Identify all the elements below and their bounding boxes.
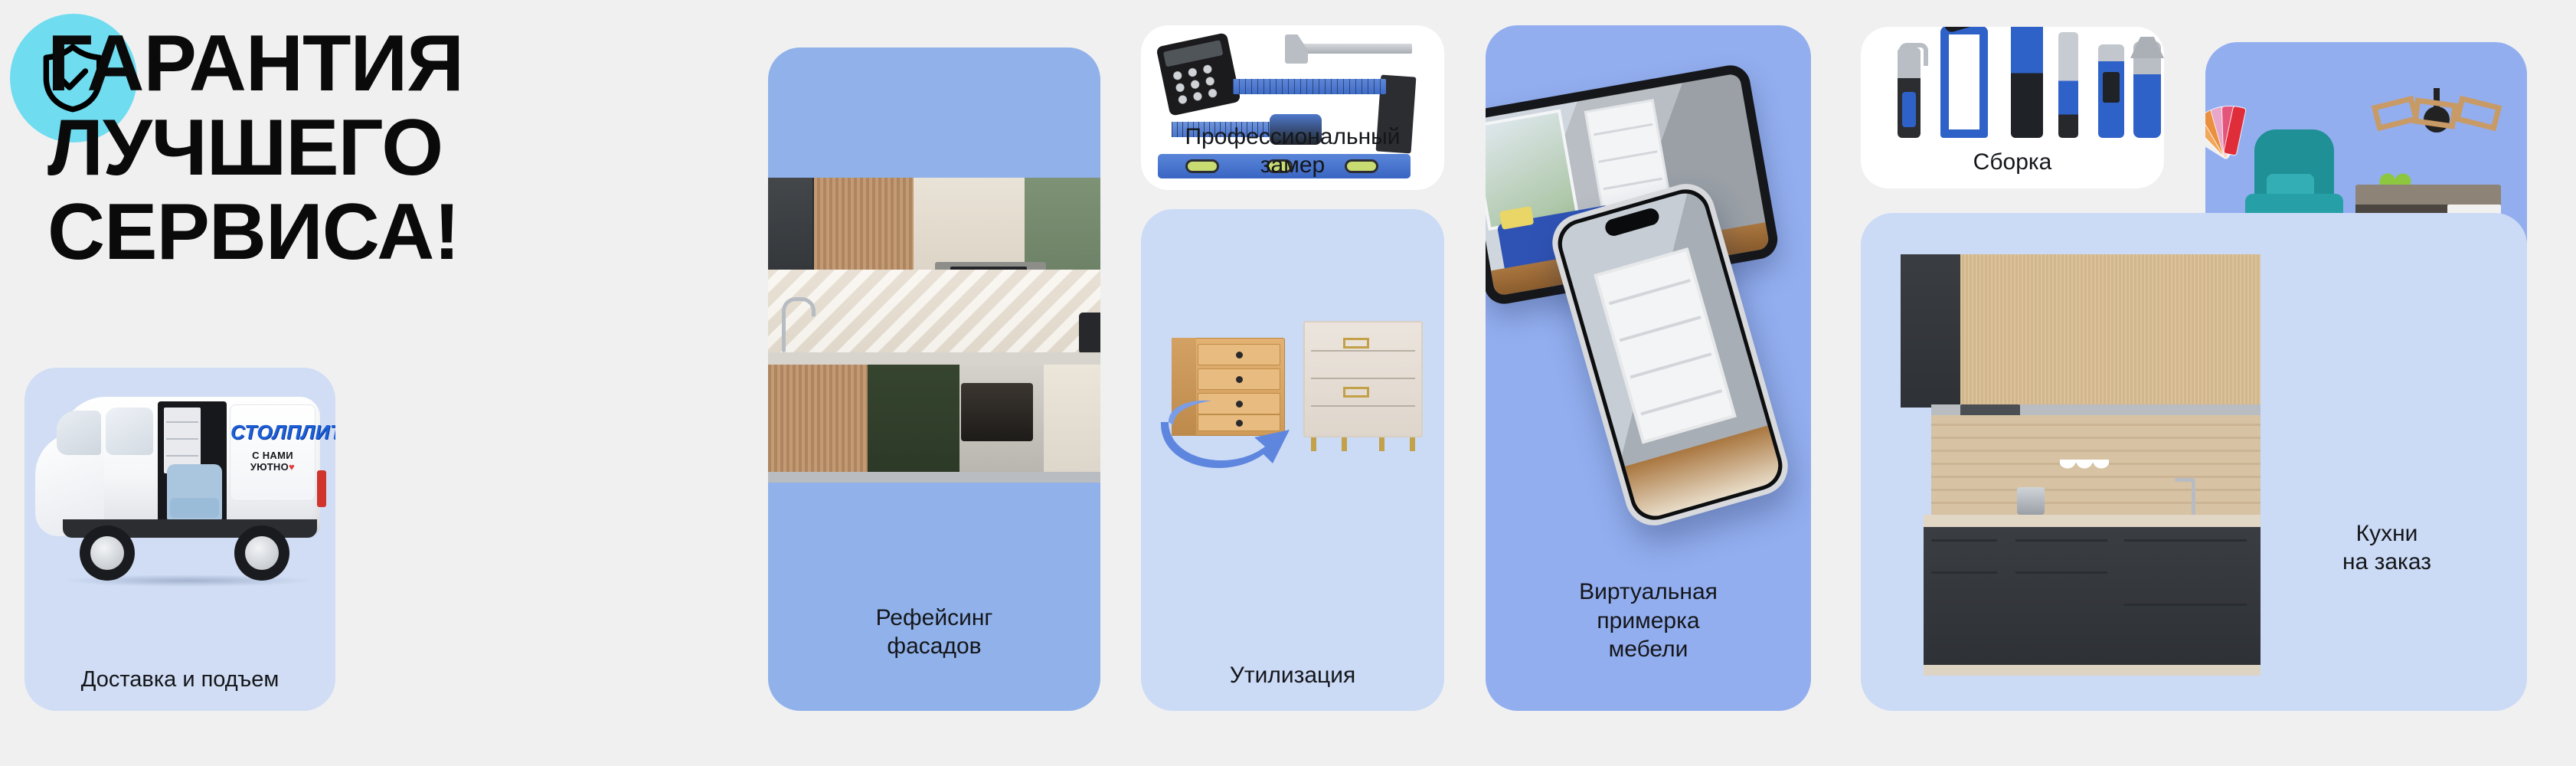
- ruler-icon: [1233, 79, 1386, 94]
- headline-line-1: ГАРАНТИЯ: [47, 19, 463, 108]
- delivery-van-illustration: СТОЛПЛИТ С НАМИ УЮТНО♥: [29, 385, 331, 614]
- stolplit-logo: СТОЛПЛИТ: [230, 421, 315, 444]
- headline-block: ГАРАНТИЯ ЛУЧШЕГО СЕРВИСА!: [0, 0, 689, 383]
- van-tagline: С НАМИ УЮТНО♥: [230, 450, 315, 473]
- service-card-delivery[interactable]: СТОЛПЛИТ С НАМИ УЮТНО♥ Доставка и подъем: [25, 368, 335, 711]
- service-card-assembly[interactable]: Сборка: [1861, 27, 2164, 188]
- card-label-custom-kitchens: Кухни на заказ: [2261, 519, 2513, 576]
- hacksaw-icon: [1940, 27, 1988, 138]
- recycle-arrow-icon: [1158, 387, 1296, 471]
- service-card-refacing[interactable]: Рефейсинг фасадов: [768, 47, 1100, 711]
- kitchen-facade-illustration: [768, 178, 1100, 499]
- hammer-icon: [2011, 27, 2043, 138]
- promo-banner: ГАРАНТИЯ ЛУЧШЕГО СЕРВИСА! СТОЛПЛИТ С НАМ…: [0, 0, 2576, 766]
- card-label-refacing: Рефейсинг фасадов: [768, 604, 1100, 660]
- card-label-measurement: Профессиональный замер: [1141, 123, 1444, 179]
- utility-knife-icon: [2098, 44, 2124, 138]
- custom-kitchen-illustration: [1901, 254, 2261, 653]
- wrench-icon: [1898, 47, 1921, 138]
- calculator-icon: [1156, 32, 1241, 116]
- headline-line-3: СЕРВИСА!: [47, 190, 675, 274]
- service-card-utilization[interactable]: Утилизация: [1141, 209, 1444, 711]
- ceiling-lamp-icon: [2369, 88, 2504, 159]
- van-branding-panel: СТОЛПЛИТ С НАМИ УЮТНО♥: [230, 404, 315, 501]
- card-label-assembly: Сборка: [1861, 148, 2164, 176]
- service-card-measurement[interactable]: Профессиональный замер: [1141, 25, 1444, 190]
- caliper-icon: [1279, 34, 1412, 64]
- headline-line-2: ЛУЧШЕГО: [47, 106, 675, 190]
- card-label-utilization: Утилизация: [1141, 661, 1444, 689]
- card-label-delivery: Доставка и подъем: [25, 666, 335, 694]
- heart-icon: ♥: [289, 461, 295, 473]
- service-card-custom-kitchens[interactable]: Кухни на заказ: [1861, 213, 2527, 711]
- new-dresser-icon: [1303, 321, 1423, 437]
- page-title: ГАРАНТИЯ ЛУЧШЕГО СЕРВИСА!: [47, 21, 675, 275]
- card-label-virtual-fitting: Виртуальная примерка мебели: [1486, 578, 1811, 663]
- service-card-virtual-fitting[interactable]: Виртуальная примерка мебели: [1486, 25, 1811, 711]
- pliers-icon: [2133, 41, 2161, 138]
- screwdriver-icon: [2058, 32, 2078, 138]
